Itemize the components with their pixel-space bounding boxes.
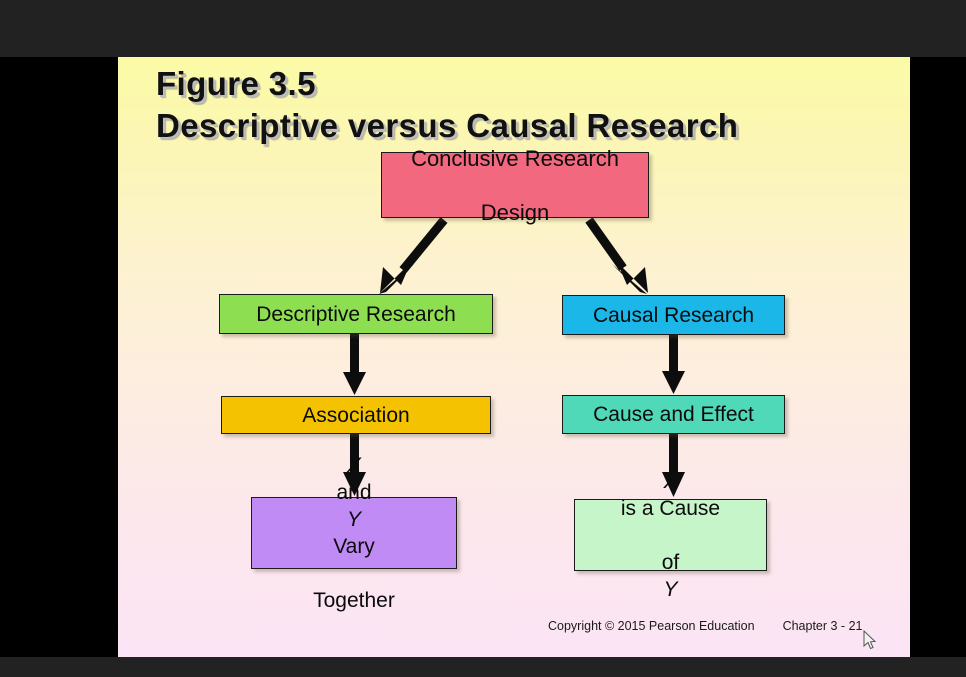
footer-chapter: Chapter 3 - 21: [783, 619, 863, 633]
node-cause-and-effect[interactable]: Cause and Effect: [562, 395, 785, 434]
arrow-conclusive-to-descriptive: [379, 220, 444, 294]
node-descriptive-text: Descriptive Research: [220, 301, 492, 328]
node-conclusive-research-design[interactable]: Conclusive ResearchDesign: [381, 152, 649, 218]
title-line-1: Figure 3.5: [156, 63, 876, 105]
node-association-text: Association: [222, 402, 490, 429]
node-x-is-a-cause-of-y[interactable]: X is a Causeof Y: [574, 499, 767, 571]
arrow-descriptive-to-association: [343, 334, 366, 395]
node-causal-text: Causal Research: [563, 302, 784, 329]
node-cause-effect-text: Cause and Effect: [563, 401, 784, 428]
presentation-slide: Figure 3.5 Descriptive versus Causal Res…: [118, 57, 910, 657]
slide-footer: Copyright © 2015 Pearson Education Chapt…: [548, 619, 888, 633]
title-line-2: Descriptive versus Causal Research: [156, 105, 876, 147]
node-association[interactable]: Association: [221, 396, 491, 434]
window-chrome-top: [0, 0, 966, 57]
mouse-cursor-icon: [863, 630, 877, 650]
footer-copyright: Copyright © 2015 Pearson Education: [548, 619, 755, 633]
node-is-cause-text: X is a Causeof Y: [575, 468, 766, 603]
arrow-conclusive-to-causal: [589, 220, 648, 294]
slide-title: Figure 3.5 Descriptive versus Causal Res…: [156, 63, 876, 147]
node-conclusive-text: Conclusive ResearchDesign: [382, 145, 648, 226]
node-x-and-y-vary-together[interactable]: X and Y VaryTogether: [251, 497, 457, 569]
window-chrome-bottom: [0, 657, 966, 677]
node-causal-research[interactable]: Causal Research: [562, 295, 785, 335]
arrow-causal-to-cause-effect: [662, 335, 685, 394]
screen: Figure 3.5 Descriptive versus Causal Res…: [0, 0, 966, 677]
node-descriptive-research[interactable]: Descriptive Research: [219, 294, 493, 334]
node-vary-text: X and Y VaryTogether: [252, 452, 456, 614]
